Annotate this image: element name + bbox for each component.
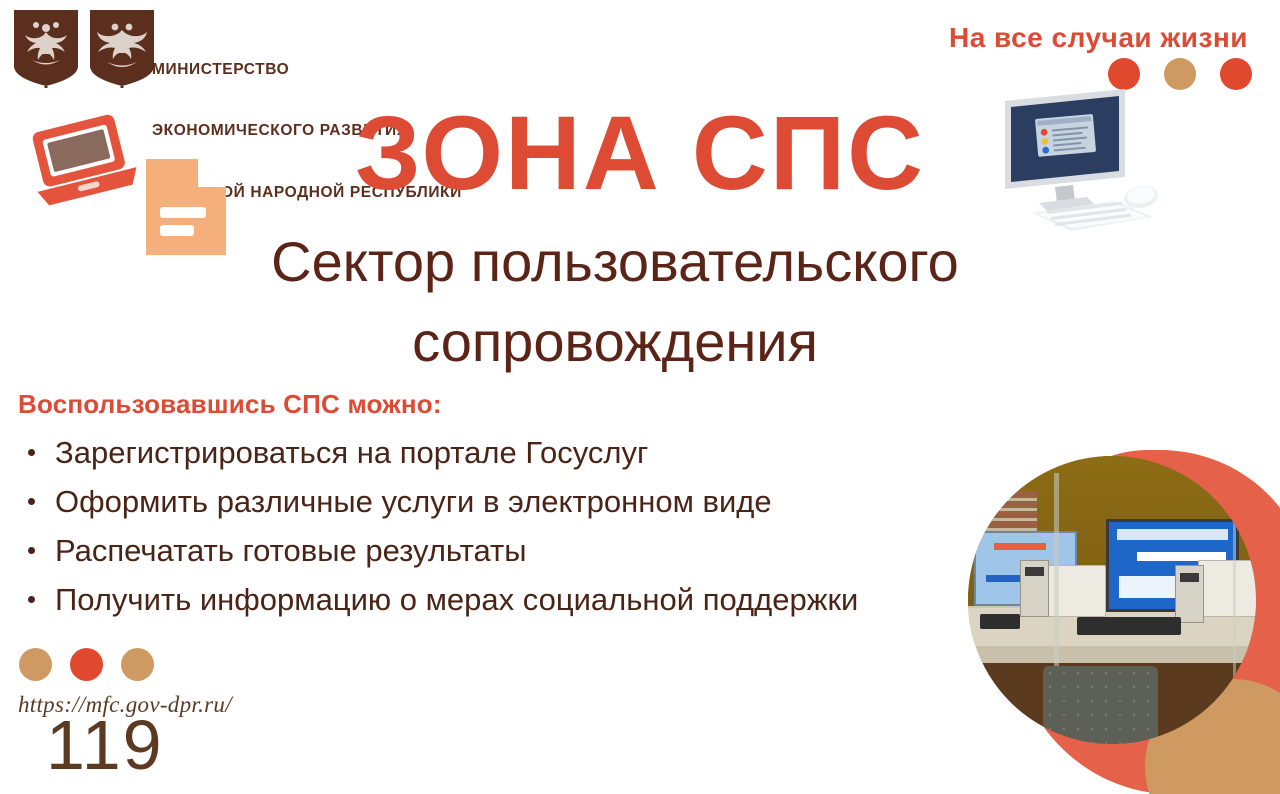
photo-glass-divider-left — [1054, 473, 1058, 698]
workstation-photo — [968, 456, 1256, 744]
photo-printer-right — [1198, 560, 1256, 618]
list-item: Оформить различные услуги в электронном … — [18, 477, 858, 526]
dpr-coat-of-arms-icon — [88, 8, 156, 88]
photo-chair — [1043, 666, 1158, 744]
photo-card-reader-right — [1175, 565, 1204, 623]
list-item: Получить информацию о мерах социальной п… — [18, 575, 858, 624]
list-item: Распечатать готовые результаты — [18, 526, 858, 575]
tagline: На все случаи жизни — [949, 22, 1248, 54]
list-item-label: Получить информацию о мерах социальной п… — [55, 584, 858, 615]
page-subtitle: Сектор пользовательского сопровождения — [140, 222, 1090, 381]
benefits-list: Зарегистрироваться на портале Госуслуг О… — [18, 428, 858, 624]
list-heading: Воспользовавшись СПС можно: — [18, 389, 442, 420]
poster-canvas: МИНИСТЕРСТВО ЭКОНОМИЧЕСКОГО РАЗВИТИЯ ДОН… — [0, 0, 1280, 794]
photo-keyboard-left — [980, 614, 1020, 628]
russian-coat-of-arms-icon — [12, 8, 80, 88]
page-title: ЗОНА СПС — [0, 101, 1280, 206]
list-item-label: Распечатать готовые результаты — [55, 535, 527, 566]
photo-keyboard-right — [1077, 617, 1181, 634]
bullet-icon — [28, 596, 35, 603]
header-emblems — [12, 8, 156, 88]
bullet-icon — [28, 449, 35, 456]
photo-glass-divider-right — [1233, 491, 1236, 698]
photo-composition — [950, 434, 1280, 794]
footer-dot-group — [19, 648, 154, 681]
footer-dot-1 — [19, 648, 52, 681]
list-item-label: Зарегистрироваться на портале Госуслуг — [55, 437, 648, 468]
list-item: Зарегистрироваться на портале Госуслуг — [18, 428, 858, 477]
footer-dot-3 — [121, 648, 154, 681]
bullet-icon — [28, 547, 35, 554]
ministry-line-1: МИНИСТЕРСТВО — [152, 60, 462, 80]
list-item-label: Оформить различные услуги в электронном … — [55, 486, 772, 517]
photo-desk-edge — [968, 646, 1256, 663]
hotline-number: 119 — [46, 710, 164, 780]
bullet-icon — [28, 498, 35, 505]
footer-dot-2 — [70, 648, 103, 681]
photo-card-reader-left — [1020, 560, 1049, 618]
header-dot-3 — [1220, 58, 1252, 90]
